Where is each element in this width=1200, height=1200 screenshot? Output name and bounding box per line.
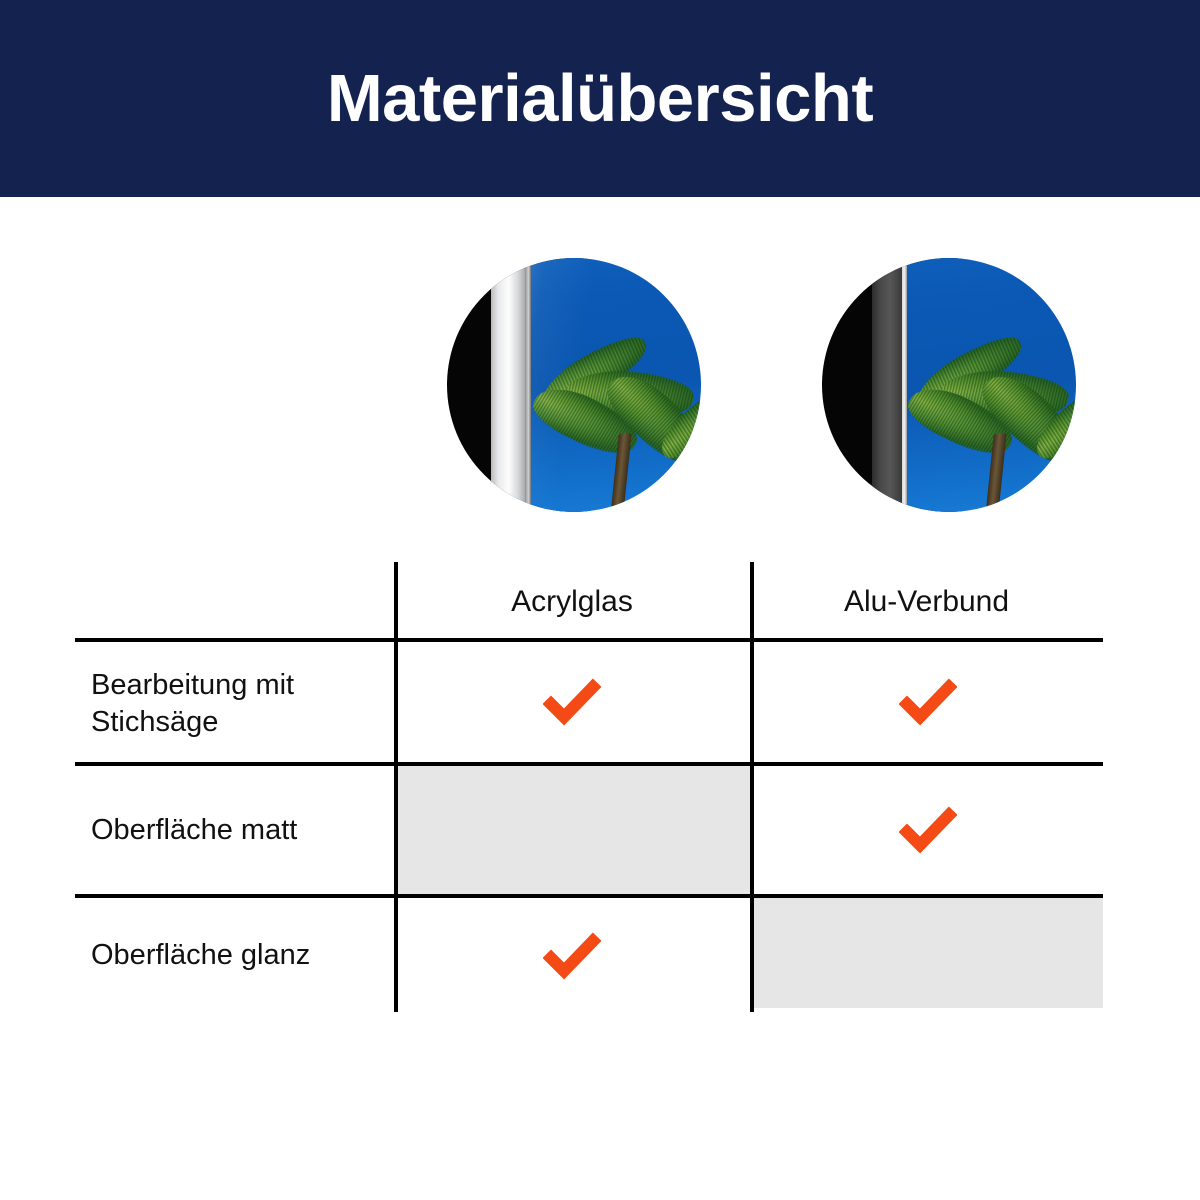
row-label-bearbeitung-mit-stichsaege: Bearbeitung mit Stichsäge	[91, 648, 391, 760]
alu-verbund-edge-highlight	[902, 258, 907, 512]
material-comparison-table: Acrylglas Alu-Verbund Bearbeitung mit St…	[75, 556, 1103, 1012]
check-icon-alu-verbund-bearbeitung-mit-stichsaege	[899, 674, 957, 732]
row-label-oberflaeche-matt: Oberfläche matt	[91, 768, 391, 892]
column-header-acrylglas: Acrylglas	[394, 572, 750, 632]
panel-photo-face	[892, 258, 1076, 512]
check-icon-acrylglas-bearbeitung-mit-stichsaege	[543, 674, 601, 732]
row-label-oberflaeche-glanz: Oberfläche glanz	[91, 900, 391, 1010]
product-thumbnails	[0, 258, 1200, 518]
cell-shaded-acrylglas-oberflaeche-matt	[396, 766, 750, 894]
acrylglas-panel-palm-trees-icon	[447, 258, 701, 512]
product-thumbnail-alu-verbund[interactable]	[822, 258, 1076, 512]
material-overview-page: Materialübersicht	[0, 0, 1200, 1200]
table-rule-row-1	[75, 762, 1103, 766]
row-label-line-2: Stichsäge	[91, 704, 294, 741]
column-header-alu-verbund: Alu-Verbund	[750, 572, 1103, 632]
check-icon-acrylglas-oberflaeche-glanz	[543, 928, 601, 986]
row-label-line-1: Bearbeitung mit	[91, 667, 294, 704]
check-icon-alu-verbund-oberflaeche-matt	[899, 802, 957, 860]
panel-photo-face	[517, 258, 701, 512]
product-thumbnail-acrylglas[interactable]	[447, 258, 701, 512]
acrylglas-edge-highlight	[525, 258, 531, 512]
page-title: Materialübersicht	[327, 65, 873, 132]
page-header: Materialübersicht	[0, 0, 1200, 197]
table-rule-row-2	[75, 894, 1103, 898]
alu-verbund-panel-palm-trees-icon	[822, 258, 1076, 512]
cell-shaded-alu-verbund-oberflaeche-glanz	[752, 898, 1103, 1008]
table-rule-header	[75, 638, 1103, 642]
alu-verbund-edge-strip	[872, 258, 902, 512]
acrylglas-edge-strip	[491, 258, 525, 512]
